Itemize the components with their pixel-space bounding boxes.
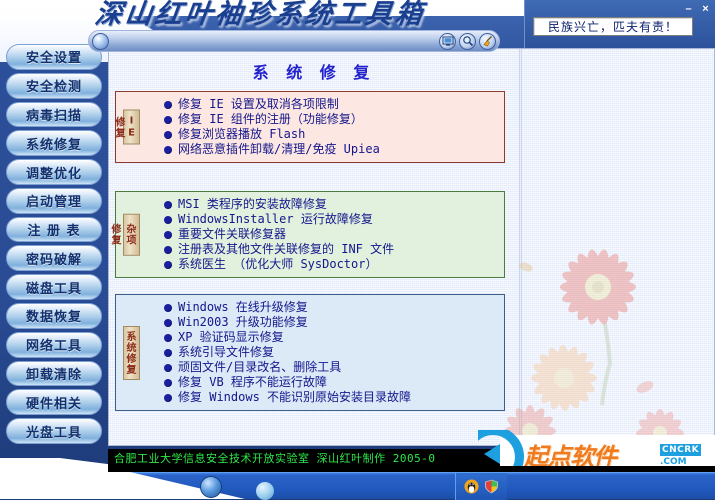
sidebar-item-registry[interactable]: 注 册 表 (6, 217, 102, 243)
list-item-label: Windows 在线升级修复 (178, 300, 308, 315)
list-item-label: 顽固文件/目录改名、删除工具 (178, 360, 341, 375)
panel-ie-repair-wrapper: IE修复 修复 IE 设置及取消各项限制 修复 IE 组件的注册（功能修复） 修… (115, 91, 505, 163)
list-item[interactable]: 系统引导文件修复 (164, 345, 500, 360)
slogan-window: – × 民族兴亡，匹夫有责！ (524, 0, 715, 48)
bullet-icon (164, 304, 172, 312)
list-item-label: 修复 IE 组件的注册（功能修复） (178, 112, 363, 127)
sidebar-item-virus-scan[interactable]: 病毒扫描 (6, 102, 102, 128)
panel-system-repair-wrapper: 系统修复 Windows 在线升级修复 Win2003 升级功能修复 XP 验证… (115, 294, 505, 411)
shield-icon[interactable] (484, 479, 499, 494)
bullet-icon (164, 101, 172, 109)
list-item-label: XP 验证码显示修复 (178, 330, 284, 345)
status-bar-text: 合肥工业大学信息安全技术开放实验室 深山红叶制作 2005-0 (114, 450, 435, 466)
list-item[interactable]: Win2003 升级功能修复 (164, 315, 500, 330)
list-item[interactable]: 修复 VB 程序不能运行故障 (164, 375, 500, 390)
sidebar-item-tuning[interactable]: 调整优化 (6, 159, 102, 185)
panel-tab-ie-repair[interactable]: IE修复 (123, 110, 140, 145)
sidebar-item-system-repair[interactable]: 系统修复 (6, 130, 102, 156)
sidebar: 安全设置 安全检测 病毒扫描 系统修复 调整优化 启动管理 注 册 表 密码破解… (6, 44, 102, 444)
bullet-icon (164, 261, 172, 269)
penguin-icon[interactable] (464, 479, 479, 494)
bullet-icon (164, 319, 172, 327)
list-item-label: 系统引导文件修复 (178, 345, 274, 360)
panel-ie-repair: IE修复 修复 IE 设置及取消各项限制 修复 IE 组件的注册（功能修复） 修… (115, 91, 505, 163)
list-item-label: 系统医生 （优化大师 SysDoctor） (178, 257, 377, 272)
bullet-icon (164, 201, 172, 209)
watermark-domain-badge: CNCRK (660, 444, 701, 456)
toolbar[interactable] (88, 30, 500, 52)
sidebar-item-data-recovery[interactable]: 数据恢复 (6, 303, 102, 329)
list-item-label: 修复 VB 程序不能运行故障 (178, 375, 327, 390)
list-item[interactable]: 网络恶意插件卸载/清理/免疫 Upiea (164, 142, 500, 157)
system-tray[interactable] (455, 473, 507, 500)
broom-icon[interactable] (479, 33, 496, 50)
watermark-domain: CNCRK .COM (660, 439, 714, 467)
list-item-label: 修复浏览器播放 Flash (178, 127, 305, 142)
list-item[interactable]: XP 验证码显示修复 (164, 330, 500, 345)
bullet-icon (164, 334, 172, 342)
gerbera-flower-watermark (490, 235, 715, 445)
list-item[interactable]: 顽固文件/目录改名、删除工具 (164, 360, 500, 375)
bullet-icon (164, 146, 172, 154)
panel-tab-system-repair[interactable]: 系统修复 (123, 326, 140, 380)
magnifier-icon[interactable] (459, 33, 476, 50)
watermark-arrow-icon (484, 444, 500, 464)
content-page: 系 统 修 复 IE修复 修复 IE 设置及取消各项限制 修复 IE 组件的注册… (108, 48, 715, 446)
list-item-label: 重要文件关联修复器 (178, 227, 286, 242)
list-item[interactable]: WindowsInstaller 运行故障修复 (164, 212, 500, 227)
panel-misc-repair-wrapper: 杂项修复 MSI 类程序的安装故障修复 WindowsInstaller 运行故… (115, 191, 505, 278)
list-item-label: 注册表及其他文件关联修复的 INF 文件 (178, 242, 394, 257)
list-item[interactable]: 修复浏览器播放 Flash (164, 127, 500, 142)
blue-orb-icon[interactable] (92, 33, 109, 50)
sidebar-item-security-check[interactable]: 安全检测 (6, 73, 102, 99)
panel-misc-repair: 杂项修复 MSI 类程序的安装故障修复 WindowsInstaller 运行故… (115, 191, 505, 278)
sidebar-item-disk-tools[interactable]: 磁盘工具 (6, 274, 102, 300)
bullet-icon (164, 231, 172, 239)
slogan-field[interactable]: 民族兴亡，匹夫有责！ (533, 17, 693, 36)
sidebar-item-network-tools[interactable]: 网络工具 (6, 332, 102, 358)
list-item[interactable]: 修复 Windows 不能识别原始安装目录故障 (164, 390, 500, 405)
list-item[interactable]: MSI 类程序的安装故障修复 (164, 197, 500, 212)
close-icon[interactable]: × (698, 2, 713, 15)
list-item-label: 修复 IE 设置及取消各项限制 (178, 97, 339, 112)
bullet-icon (164, 364, 172, 372)
panel-system-repair: 系统修复 Windows 在线升级修复 Win2003 升级功能修复 XP 验证… (115, 294, 505, 411)
list-item[interactable]: 注册表及其他文件关联修复的 INF 文件 (164, 242, 500, 257)
panel-tab-misc-repair[interactable]: 杂项修复 (123, 213, 140, 256)
sidebar-item-startup-manager[interactable]: 启动管理 (6, 188, 102, 214)
bullet-icon (164, 116, 172, 124)
monitor-icon[interactable] (439, 33, 456, 50)
sidebar-item-password-crack[interactable]: 密码破解 (6, 245, 102, 271)
bullet-icon (164, 131, 172, 139)
list-item[interactable]: Windows 在线升级修复 (164, 300, 500, 315)
sidebar-item-cd-tools[interactable]: 光盘工具 (6, 418, 102, 444)
bullet-icon (164, 246, 172, 254)
panel-system-repair-list: Windows 在线升级修复 Win2003 升级功能修复 XP 验证码显示修复… (164, 300, 500, 405)
panel-ie-repair-list: 修复 IE 设置及取消各项限制 修复 IE 组件的注册（功能修复） 修复浏览器播… (164, 97, 500, 157)
sidebar-item-uninstall-clean[interactable]: 卸载清除 (6, 361, 102, 387)
window-controls: – × (681, 2, 713, 15)
section-title: 系 统 修 复 (109, 59, 519, 83)
list-item-label: WindowsInstaller 运行故障修复 (178, 212, 373, 227)
list-item[interactable]: 系统医生 （优化大师 SysDoctor） (164, 257, 500, 272)
bullet-icon (164, 349, 172, 357)
bullet-icon (164, 216, 172, 224)
list-item-label: 修复 Windows 不能识别原始安装目录故障 (178, 390, 411, 405)
taskbar[interactable] (0, 472, 715, 499)
sidebar-item-security-settings[interactable]: 安全设置 (6, 44, 102, 70)
globe-icon[interactable] (200, 476, 222, 498)
panel-misc-repair-list: MSI 类程序的安装故障修复 WindowsInstaller 运行故障修复 重… (164, 197, 500, 272)
list-item-label: 网络恶意插件卸载/清理/免疫 Upiea (178, 142, 380, 157)
list-item[interactable]: 重要文件关联修复器 (164, 227, 500, 242)
list-item[interactable]: 修复 IE 设置及取消各项限制 (164, 97, 500, 112)
bullet-icon (164, 394, 172, 402)
bullet-icon (164, 379, 172, 387)
sidebar-item-hardware[interactable]: 硬件相关 (6, 389, 102, 415)
list-item-label: Win2003 升级功能修复 (178, 315, 308, 330)
list-item[interactable]: 修复 IE 组件的注册（功能修复） (164, 112, 500, 127)
globe-secondary-icon[interactable] (256, 482, 274, 500)
list-item-label: MSI 类程序的安装故障修复 (178, 197, 327, 212)
minimize-button[interactable]: – (681, 2, 696, 15)
taskbar-left-wedge (0, 472, 290, 499)
